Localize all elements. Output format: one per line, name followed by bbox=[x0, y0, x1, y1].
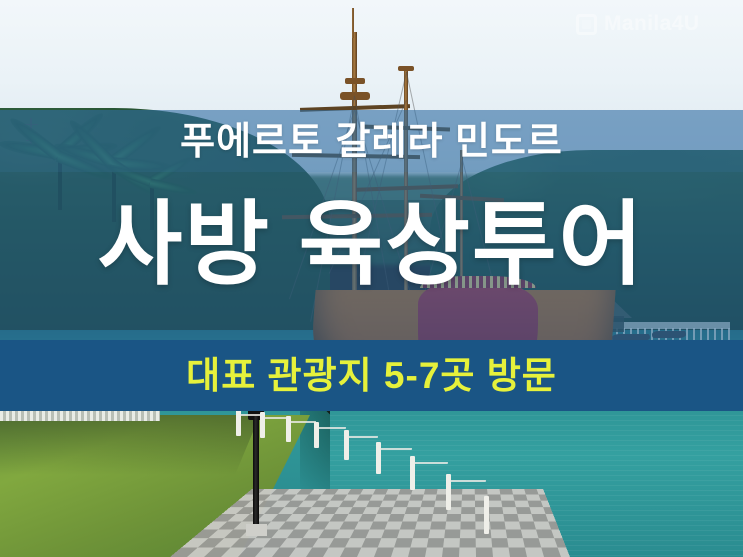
railing-post bbox=[376, 442, 381, 474]
promo-banner-strip bbox=[0, 403, 743, 411]
promo-subtitle: 푸에르토 갈레라 민도르 bbox=[0, 122, 743, 164]
camera-frame-icon bbox=[576, 14, 597, 35]
railing-post bbox=[344, 430, 349, 460]
lawn-shadow bbox=[0, 415, 260, 475]
promo-image-canvas: 푸에르토 갈레라 민도르 사방 육상투어 대표 관광지 5-7곳 방문 Mani… bbox=[0, 0, 743, 557]
promo-title: 사방 육상투어 bbox=[0, 196, 743, 295]
watermark: Manila4U bbox=[576, 12, 699, 36]
railing-post bbox=[260, 412, 265, 438]
mast-top-platform bbox=[345, 78, 365, 84]
lamp-base bbox=[246, 524, 267, 536]
promo-banner-text: 대표 관광지 5-7곳 방문 bbox=[186, 345, 557, 399]
lamp-post bbox=[253, 415, 259, 530]
promo-banner: 대표 관광지 5-7곳 방문 bbox=[0, 340, 743, 403]
watermark-brand: Manila4U bbox=[604, 12, 699, 36]
main-mast-top bbox=[352, 8, 354, 38]
railing-post bbox=[484, 496, 489, 534]
mizzen-mast-cap bbox=[398, 66, 414, 71]
railing-post bbox=[286, 416, 291, 442]
railing-post bbox=[314, 422, 319, 448]
